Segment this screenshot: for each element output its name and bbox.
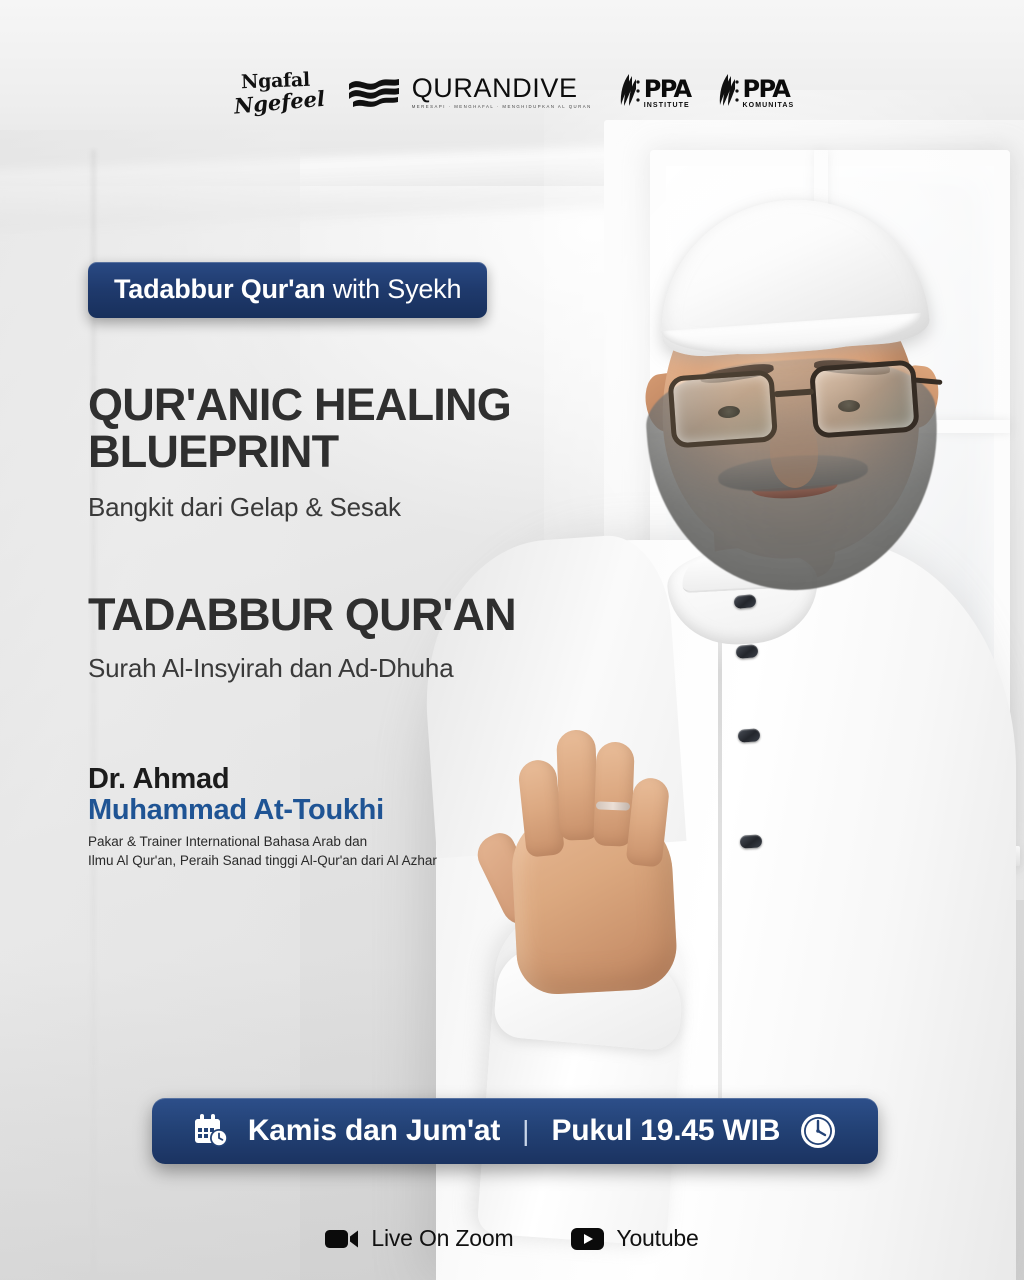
- speaker-name-line1: Dr. Ahmad: [88, 764, 437, 794]
- finger-ring: [596, 801, 630, 810]
- speaker-credentials: Pakar & Trainer International Bahasa Ara…: [88, 833, 437, 870]
- broadcast-platforms: Live On Zoom Youtube: [0, 1225, 1024, 1252]
- video-camera-icon: [325, 1227, 359, 1251]
- speaker-credential-line2: Ilmu Al Qur'an, Peraih Sanad tinggi Al-Q…: [88, 852, 437, 871]
- ppa-komunitas-wordmark: PPA KOMUNITAS: [743, 77, 795, 109]
- ppa-komunitas-name: PPA: [743, 77, 795, 101]
- hand-finger: [556, 729, 599, 840]
- ppa-institute-logo: PPA INSTITUTE: [618, 73, 691, 113]
- session-two-block: TADABBUR QUR'AN Surah Al-Insyirah dan Ad…: [88, 592, 516, 684]
- series-badge-regular: with Syekh: [325, 274, 461, 304]
- platform-zoom-label: Live On Zoom: [371, 1225, 513, 1252]
- series-badge-bold: Tadabbur Qur'an: [114, 274, 325, 304]
- ppa-institute-name: PPA: [644, 77, 691, 101]
- clock-icon: [798, 1111, 838, 1151]
- youtube-play-icon: [571, 1227, 604, 1251]
- event-poster: Ngafal Ngefeel QURANDIVE MERESAPI · MENG…: [0, 0, 1024, 1280]
- schedule-bar: Kamis dan Jum'at | Pukul 19.45 WIB: [152, 1098, 878, 1164]
- series-badge: Tadabbur Qur'an with Syekh: [88, 262, 487, 318]
- qurandive-logo: QURANDIVE MERESAPI · MENGHAFAL · MENGHID…: [347, 75, 592, 109]
- ppa-komunitas-logo: PPA KOMUNITAS: [717, 73, 795, 113]
- qurandive-name: QURANDIVE: [412, 75, 592, 102]
- session-one-subtitle: Bangkit dari Gelap & Sesak: [88, 492, 511, 523]
- platform-zoom: Live On Zoom: [325, 1225, 513, 1252]
- session-one-title: QUR'ANIC HEALINGBLUEPRINT: [88, 382, 511, 476]
- thobe-button: [740, 834, 763, 848]
- ppa-komunitas-sub: KOMUNITAS: [743, 102, 795, 109]
- schedule-separator: |: [522, 1115, 529, 1147]
- ppa-institute-sub: INSTITUTE: [644, 102, 691, 109]
- session-two-subtitle: Surah Al-Insyirah dan Ad-Dhuha: [88, 653, 516, 684]
- wave-icon: [347, 75, 405, 109]
- session-one-block: QUR'ANIC HEALINGBLUEPRINT Bangkit dari G…: [88, 382, 511, 523]
- calendar-clock-icon: [192, 1112, 230, 1150]
- eyeglasses: [665, 359, 922, 460]
- thobe-placket: [718, 570, 722, 1130]
- feather-icon: [618, 73, 640, 113]
- speaker-credential-line1: Pakar & Trainer International Bahasa Ara…: [88, 833, 437, 852]
- eyeglass-lens: [667, 369, 778, 448]
- ppa-institute-wordmark: PPA INSTITUTE: [644, 77, 691, 109]
- qurandive-wordmark: QURANDIVE MERESAPI · MENGHAFAL · MENGHID…: [412, 75, 592, 109]
- eyeglass-bridge: [774, 389, 814, 398]
- eyeglass-lens: [809, 359, 920, 438]
- ngafal-ngefeel-logo: Ngafal Ngefeel: [230, 72, 321, 113]
- schedule-time: Pukul 19.45 WIB: [551, 1114, 780, 1148]
- thobe-button: [738, 728, 761, 743]
- platform-youtube-label: Youtube: [616, 1225, 698, 1252]
- feather-icon: [717, 73, 739, 113]
- speaker-info-block: Dr. Ahmad Muhammad At-Toukhi Pakar & Tra…: [88, 764, 437, 870]
- qurandive-tagline: MERESAPI · MENGHAFAL · MENGHIDUPKAN AL Q…: [412, 105, 592, 109]
- session-two-title: TADABBUR QUR'AN: [88, 592, 516, 639]
- partner-logo-bar: Ngafal Ngefeel QURANDIVE MERESAPI · MENG…: [0, 72, 1024, 113]
- platform-youtube: Youtube: [571, 1225, 698, 1252]
- schedule-days: Kamis dan Jum'at: [248, 1114, 500, 1148]
- ngafal-line2: Ngefeel: [233, 88, 325, 117]
- speaker-name-line2: Muhammad At-Toukhi: [88, 794, 437, 826]
